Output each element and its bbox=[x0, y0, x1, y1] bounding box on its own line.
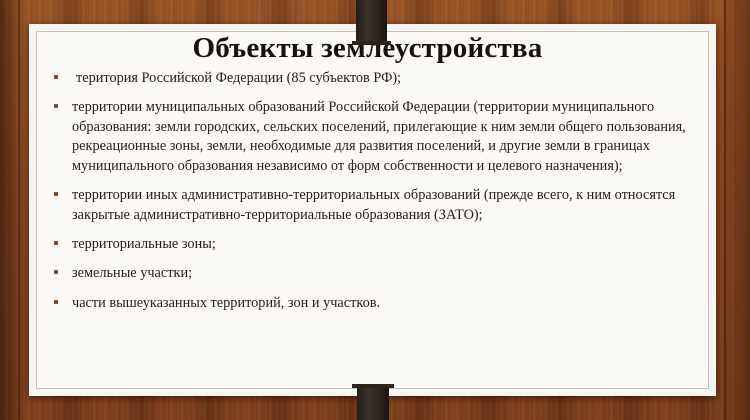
list-item-text: територия Российской Федерации (85 субъе… bbox=[72, 70, 401, 86]
list-item: територия Российской Федерации (85 субъе… bbox=[39, 69, 696, 88]
slide-content: Объекты землеустройства територия Россий… bbox=[29, 24, 716, 396]
list-item: территориальные зоны; bbox=[39, 235, 696, 254]
list-item-text: земельные участки; bbox=[72, 265, 192, 281]
list-item: части вышеуказанных территорий, зон и уч… bbox=[39, 294, 696, 313]
bullet-dot-icon bbox=[54, 241, 58, 245]
wood-shadow-right bbox=[716, 0, 750, 420]
wood-shadow-left bbox=[0, 0, 26, 420]
bullet-dot-icon bbox=[54, 192, 58, 196]
list-item-text: территории муниципальных образований Рос… bbox=[72, 99, 686, 173]
list-item-text: части вышеуказанных территорий, зон и уч… bbox=[72, 295, 380, 311]
wood-seam-left bbox=[18, 0, 20, 420]
wood-seam-right bbox=[724, 0, 726, 420]
list-item: земельные участки; bbox=[39, 264, 696, 283]
bullet-list: територия Российской Федерации (85 субъе… bbox=[39, 69, 696, 313]
binder-strap-bottom-icon bbox=[357, 384, 389, 420]
paper-card: Объекты землеустройства територия Россий… bbox=[29, 24, 716, 396]
bullet-dot-icon bbox=[54, 104, 58, 108]
presentation-slide: Объекты землеустройства територия Россий… bbox=[0, 0, 750, 420]
list-item: территории муниципальных образований Рос… bbox=[39, 98, 696, 176]
list-item: территории иных административно-территор… bbox=[39, 186, 696, 225]
binder-strap-top-icon bbox=[356, 0, 387, 45]
bullet-dot-icon bbox=[54, 75, 58, 79]
bullet-dot-icon bbox=[54, 270, 58, 274]
list-item-text: территориальные зоны; bbox=[72, 236, 216, 252]
bullet-dot-icon bbox=[54, 300, 58, 304]
list-item-text: территории иных административно-территор… bbox=[72, 187, 675, 222]
